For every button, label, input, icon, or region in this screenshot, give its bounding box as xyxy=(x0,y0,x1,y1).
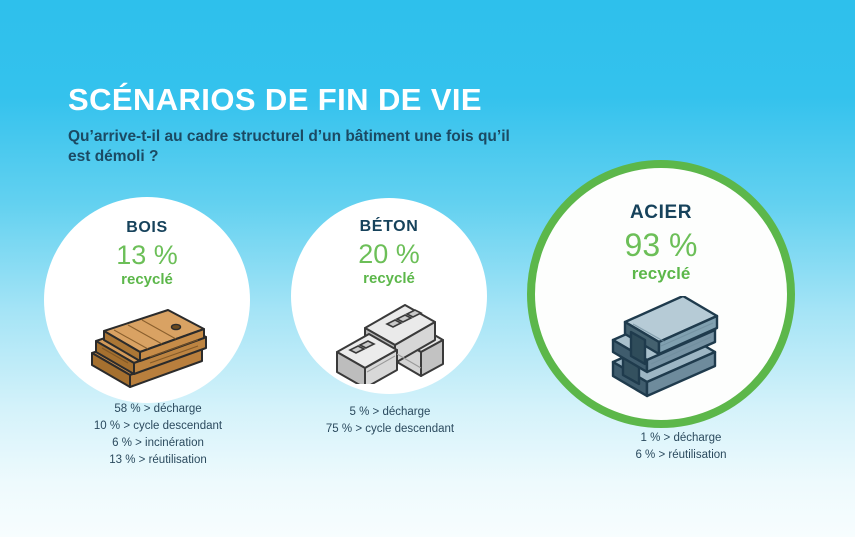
stat-line: 6 % > incinération xyxy=(58,435,258,452)
stat-line: 13 % > réutilisation xyxy=(58,452,258,469)
material-percent-beton: 20 % xyxy=(291,240,487,269)
wood-planks-icon xyxy=(44,305,250,389)
material-stats-beton: 5 % > décharge 75 % > cycle descendant xyxy=(290,404,490,438)
infographic-poster: SCÉNARIOS DE FIN DE VIE Qu’arrive-t-il a… xyxy=(0,0,855,537)
material-summary-beton: BÉTON 20 % recyclé xyxy=(291,218,487,287)
page-title: SCÉNARIOS DE FIN DE VIE xyxy=(68,84,588,117)
stat-line: 5 % > décharge xyxy=(290,404,490,421)
material-stats-acier: 1 % > décharge 6 % > réutilisation xyxy=(581,430,781,464)
material-label-bois: BOIS xyxy=(44,219,250,237)
material-percent-bois: 13 % xyxy=(44,241,250,270)
stat-line: 6 % > réutilisation xyxy=(581,447,781,464)
material-percent-acier: 93 % xyxy=(535,228,787,263)
material-label-acier: ACIER xyxy=(535,202,787,224)
stat-line: 10 % > cycle descendant xyxy=(58,418,258,435)
material-recycled-label-bois: recyclé xyxy=(44,271,250,288)
material-summary-acier: ACIER 93 % recyclé xyxy=(535,202,787,284)
stat-line: 75 % > cycle descendant xyxy=(290,421,490,438)
material-recycled-label-beton: recyclé xyxy=(291,270,487,287)
material-card-bois: BOIS 13 % recyclé xyxy=(44,197,250,403)
page-subtitle: Qu’arrive-t-il au cadre structurel d’un … xyxy=(68,127,523,168)
material-recycled-label-acier: recyclé xyxy=(535,264,787,284)
concrete-blocks-icon xyxy=(291,296,487,384)
material-card-beton: BÉTON 20 % recyclé xyxy=(291,198,487,394)
steel-beams-icon xyxy=(535,296,787,400)
header: SCÉNARIOS DE FIN DE VIE Qu’arrive-t-il a… xyxy=(68,84,588,167)
material-label-beton: BÉTON xyxy=(291,218,487,236)
material-stats-bois: 58 % > décharge 10 % > cycle descendant … xyxy=(58,401,258,469)
material-card-acier: ACIER 93 % recyclé xyxy=(527,160,795,428)
material-summary-bois: BOIS 13 % recyclé xyxy=(44,219,250,288)
stat-line: 58 % > décharge xyxy=(58,401,258,418)
stat-line: 1 % > décharge xyxy=(581,430,781,447)
